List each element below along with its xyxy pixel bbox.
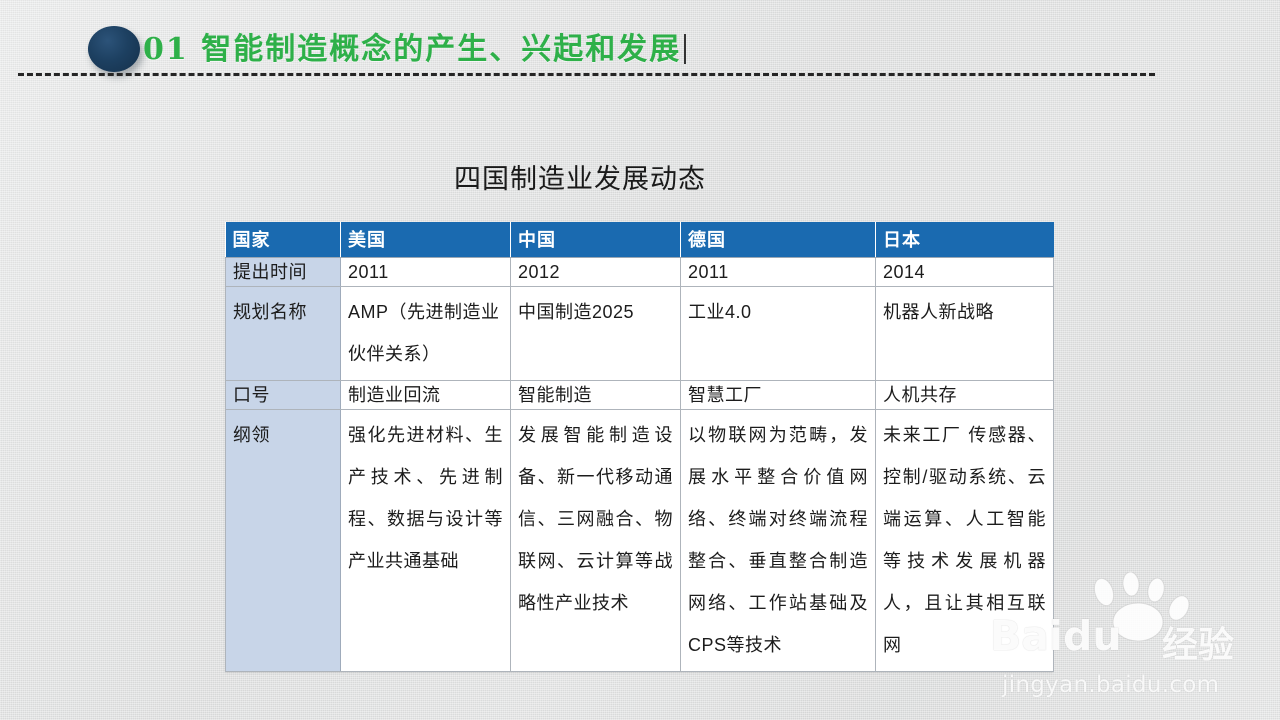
cell-program-germany: 以物联网为范畴，发展水平整合价值网络、终端对终端流程整合、垂直整合制造网络、工作… — [681, 410, 876, 672]
cell-program-china: 发展智能制造设备、新一代移动通信、三网融合、物联网、云计算等战略性产业技术 — [511, 410, 681, 672]
cell-proposed-time-germany: 2011 — [681, 258, 876, 287]
watermark-url: jingyan.baidu.com — [1002, 672, 1219, 698]
cell-slogan-usa: 制造业回流 — [341, 381, 511, 410]
column-header-china: 中国 — [511, 222, 681, 258]
table-row: 纲领 强化先进材料、生产技术、先进制程、数据与设计等产业共通基础 发展智能制造设… — [226, 410, 1054, 672]
slide-header: 01 智能制造概念的产生、兴起和发展 — [0, 0, 1280, 96]
row-label-proposed-time: 提出时间 — [226, 258, 341, 287]
bullet-ellipse-icon — [88, 26, 140, 72]
comparison-table: 国家 美国 中国 德国 日本 提出时间 2011 2012 2011 2014 … — [225, 222, 1054, 672]
cell-program-usa: 强化先进材料、生产技术、先进制程、数据与设计等产业共通基础 — [341, 410, 511, 672]
cell-slogan-japan: 人机共存 — [876, 381, 1054, 410]
column-header-japan: 日本 — [876, 222, 1054, 258]
row-label-slogan: 口号 — [226, 381, 341, 410]
cell-program-japan: 未来工厂 传感器、控制/驱动系统、云端运算、人工智能等技术发展机器人，且让其相互… — [876, 410, 1054, 672]
watermark-brand-cn: 经验 — [1162, 616, 1234, 668]
comparison-table-container: 国家 美国 中国 德国 日本 提出时间 2011 2012 2011 2014 … — [225, 222, 1053, 672]
row-label-plan-name: 规划名称 — [226, 287, 341, 381]
header-dashed-divider — [18, 73, 1155, 76]
cell-proposed-time-usa: 2011 — [341, 258, 511, 287]
cell-slogan-germany: 智慧工厂 — [681, 381, 876, 410]
table-header-row: 国家 美国 中国 德国 日本 — [226, 222, 1054, 258]
page-title-text: 01 智能制造概念的产生、兴起和发展 — [143, 32, 681, 67]
column-header-germany: 德国 — [681, 222, 876, 258]
page-title: 01 智能制造概念的产生、兴起和发展 — [143, 24, 686, 68]
cell-plan-name-japan: 机器人新战略 — [876, 287, 1054, 381]
column-header-usa: 美国 — [341, 222, 511, 258]
column-header-country: 国家 — [226, 222, 341, 258]
table-row: 口号 制造业回流 智能制造 智慧工厂 人机共存 — [226, 381, 1054, 410]
text-cursor-icon — [684, 34, 686, 64]
cell-proposed-time-japan: 2014 — [876, 258, 1054, 287]
cell-proposed-time-china: 2012 — [511, 258, 681, 287]
table-row: 提出时间 2011 2012 2011 2014 — [226, 258, 1054, 287]
cell-plan-name-usa: AMP（先进制造业伙伴关系） — [341, 287, 511, 381]
table-title: 四国制造业发展动态 — [0, 157, 1160, 196]
table-row: 规划名称 AMP（先进制造业伙伴关系） 中国制造2025 工业4.0 机器人新战… — [226, 287, 1054, 381]
cell-slogan-china: 智能制造 — [511, 381, 681, 410]
baidu-paw-icon — [1084, 572, 1204, 642]
row-label-program: 纲领 — [226, 410, 341, 672]
cell-plan-name-china: 中国制造2025 — [511, 287, 681, 381]
cell-plan-name-germany: 工业4.0 — [681, 287, 876, 381]
